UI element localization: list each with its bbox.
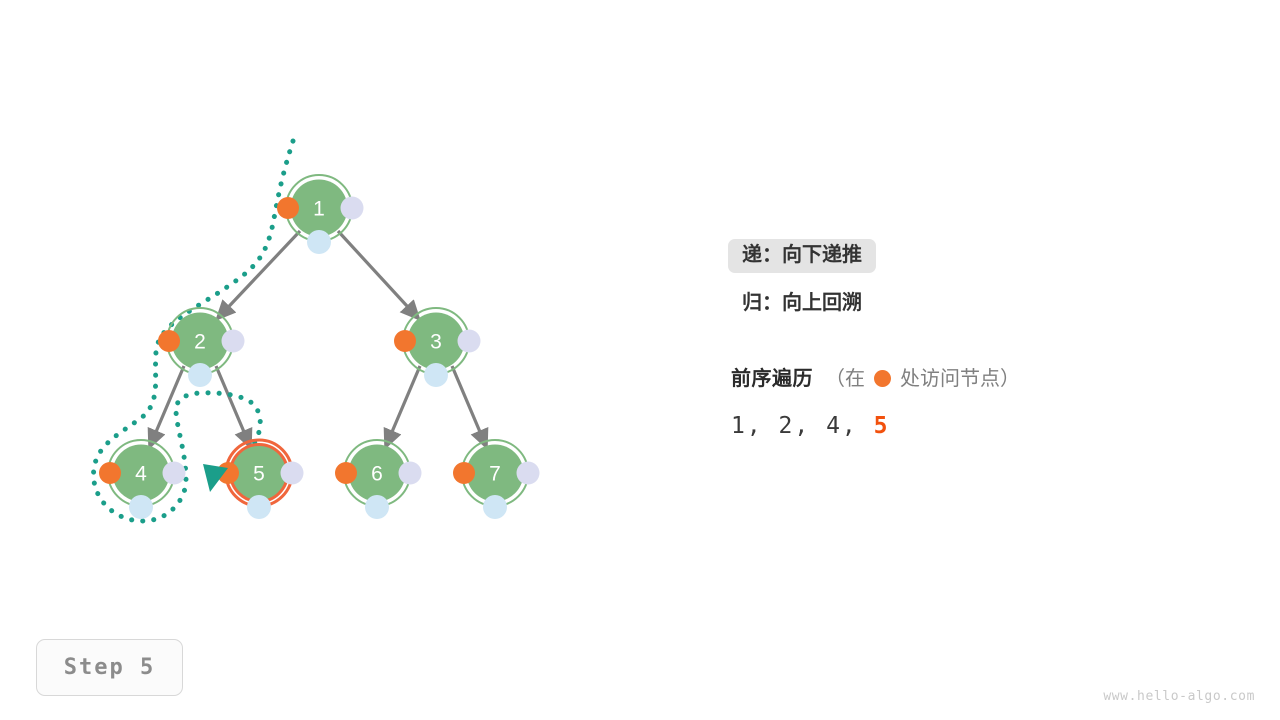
traversal-sequence-visited: 1, 2, 4, [731,413,874,439]
visit-dot [394,330,416,352]
bottom-dot [307,230,331,254]
legend-label-ascend: 归：向上回溯 [728,287,876,321]
edge-3-7 [452,366,486,446]
traversal-title: 前序遍历 [731,362,813,391]
tree-nodes: 1 2 3 [99,175,540,519]
right-dot [458,330,481,353]
node-label: 4 [135,463,147,486]
traversal-sequence-current: 5 [874,413,890,439]
tree-node-7[interactable]: 7 [453,440,540,519]
watermark-text: www.hello-algo.com [1103,689,1255,704]
bottom-dot [483,495,507,519]
tree-node-3[interactable]: 3 [394,308,481,387]
node-label: 2 [194,331,206,354]
visit-dot [277,197,299,219]
bottom-dot [188,363,212,387]
node-label: 6 [371,463,383,486]
recursion-legend: 递：向下递推 归：向上回溯 [728,232,1208,328]
traversal-subtitle-after: 处访问节点） [900,362,1020,391]
right-dot [222,330,245,353]
node-label: 3 [430,331,442,354]
watermark: www.hello-algo.com [1103,689,1255,704]
tree-node-6[interactable]: 6 [335,440,422,519]
right-dot [281,462,304,485]
right-dot [341,197,364,220]
right-dot [399,462,422,485]
traversal-order-block: 前序遍历 （在 处访问节点） 1, 2, 4, 5 [731,362,1231,439]
legend-row-descend: 递：向下递推 [728,232,1208,280]
bottom-dot [247,495,271,519]
step-badge-label: Step 5 [64,655,155,680]
bottom-dot [424,363,448,387]
tree-node-5[interactable]: 5 [217,440,304,519]
legend-row-ascend: 归：向上回溯 [728,280,1208,328]
binary-tree-diagram: 1 2 3 [0,0,640,620]
node-label: 5 [253,463,265,486]
tree-node-2[interactable]: 2 [158,308,245,387]
edge-1-2 [218,231,300,318]
visit-dot [335,462,357,484]
visit-dot [158,330,180,352]
edge-1-3 [338,231,418,318]
edge-3-6 [386,366,420,446]
bottom-dot [129,495,153,519]
illustration-canvas: 1 2 3 [0,0,1280,720]
traversal-sequence: 1, 2, 4, 5 [731,413,1231,439]
visit-dot [453,462,475,484]
traversal-title-row: 前序遍历 （在 处访问节点） [731,362,1231,391]
node-label: 7 [489,463,501,486]
edge-2-5 [216,366,250,446]
visit-dot [99,462,121,484]
right-dot [517,462,540,485]
bottom-dot [365,495,389,519]
node-label: 1 [313,198,325,221]
step-badge: Step 5 [36,639,183,696]
traversal-subtitle-before: （在 [825,362,865,391]
visit-dot-icon [874,370,891,387]
right-dot [163,462,186,485]
legend-label-descend: 递：向下递推 [728,239,876,273]
